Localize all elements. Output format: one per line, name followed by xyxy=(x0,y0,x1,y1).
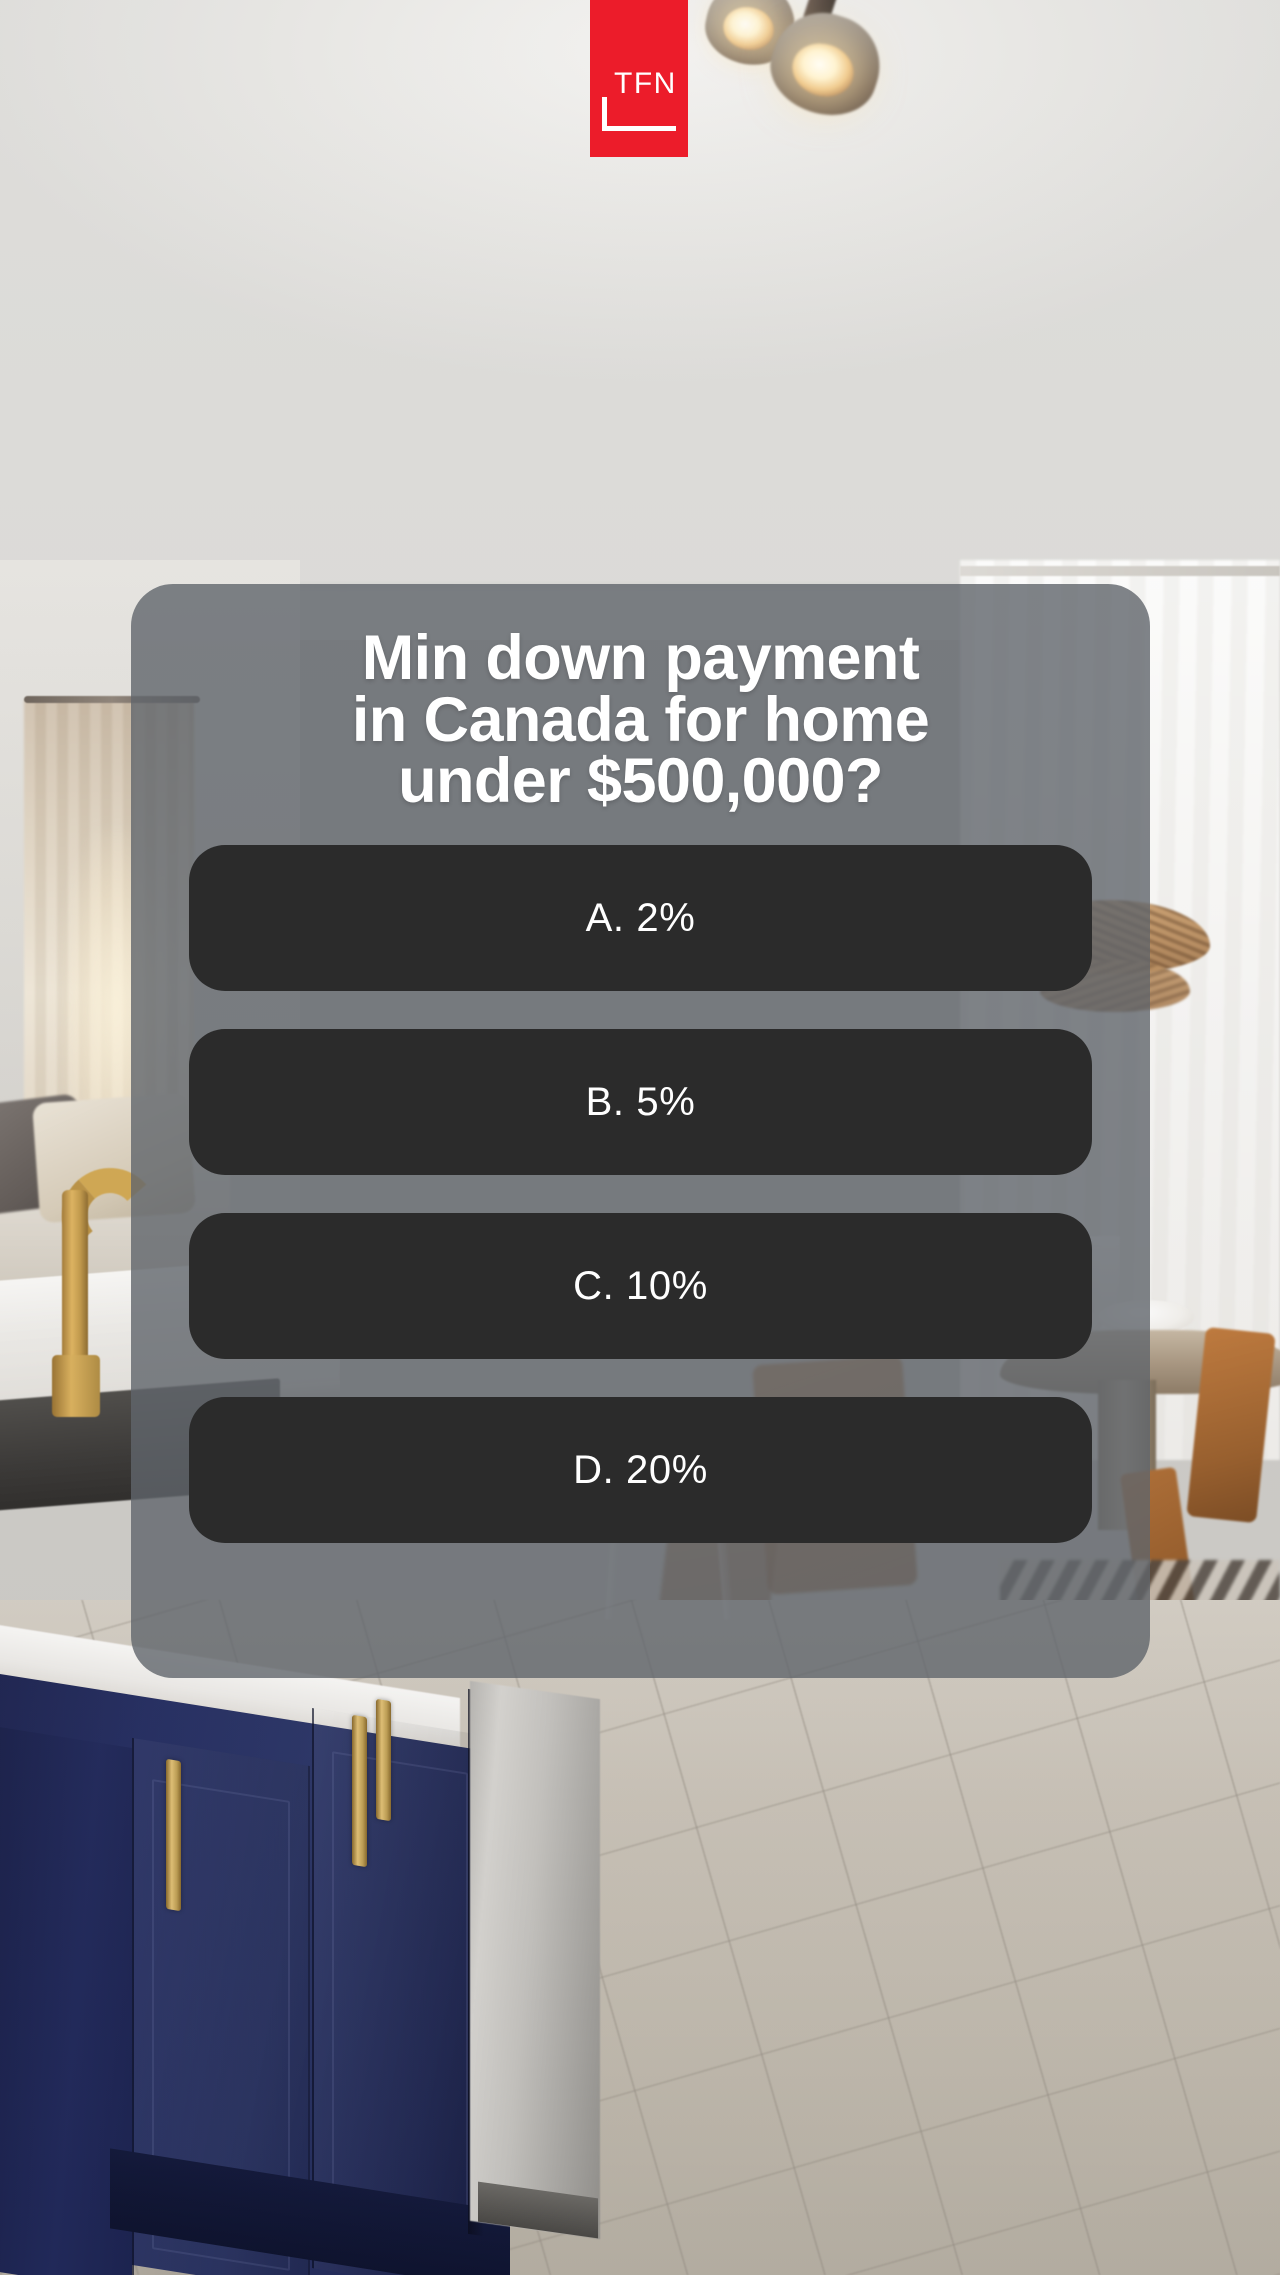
quiz-options-list: A. 2% B. 5% C. 10% D. 20% xyxy=(189,845,1092,1543)
quiz-option-b[interactable]: B. 5% xyxy=(189,1029,1092,1175)
brass-cabinet-handle xyxy=(352,1715,367,1867)
tfn-logo-text: TFN xyxy=(614,69,676,99)
brass-cabinet-handle xyxy=(166,1759,181,1911)
tfn-logo-icon: TFN xyxy=(590,0,688,157)
brass-cabinet-handle xyxy=(376,1699,391,1821)
brass-faucet-base xyxy=(52,1355,100,1417)
quiz-option-a[interactable]: A. 2% xyxy=(189,845,1092,991)
quiz-option-d[interactable]: D. 20% xyxy=(189,1397,1092,1543)
question-line-2: in Canada for home xyxy=(189,690,1092,752)
tfn-logo-bracket-icon xyxy=(602,97,676,131)
curtain-rail-right xyxy=(960,566,1280,576)
quiz-card: Min down payment in Canada for home unde… xyxy=(131,584,1150,1678)
quiz-screen: TFN Min down payment in Canada for home … xyxy=(0,0,1280,2275)
question-line-1: Min down payment xyxy=(189,628,1092,690)
quiz-question: Min down payment in Canada for home unde… xyxy=(189,628,1092,813)
brass-faucet-neck xyxy=(62,1190,88,1375)
tfn-logo-mark: TFN xyxy=(602,69,676,131)
quiz-option-c[interactable]: C. 10% xyxy=(189,1213,1092,1359)
question-line-3: under $500,000? xyxy=(189,751,1092,813)
stainless-dishwasher xyxy=(470,1681,600,2239)
